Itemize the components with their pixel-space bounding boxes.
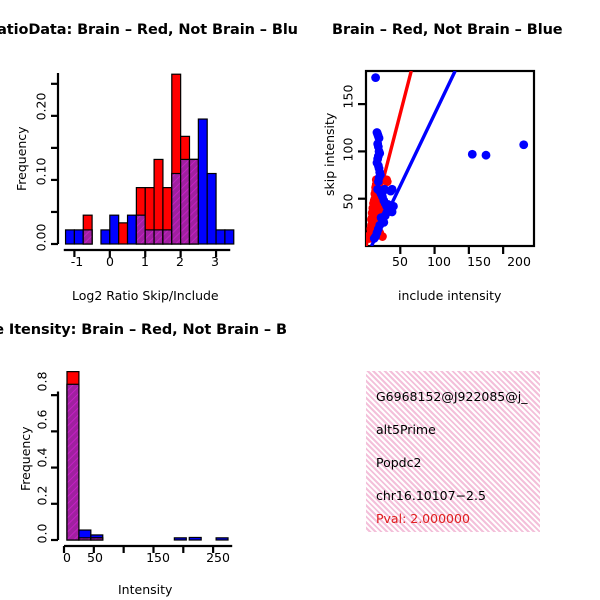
gene-info-panel: G6968152@J922085@j_ alt5Prime Popdc2 chr… bbox=[366, 371, 540, 532]
info-probe-id: G6968152@J922085@j_ bbox=[376, 389, 527, 404]
intensity-histogram-panel: ne Itensity: Brain – Red, Not Brain – B … bbox=[0, 316, 300, 600]
scatter-panel: Brain – Red, Not Brain – Blue skip inten… bbox=[300, 16, 600, 316]
scatter-plot-area bbox=[300, 16, 600, 316]
info-locus: chr16.10107−2.5 bbox=[376, 488, 486, 503]
ratio-histogram-plot-area bbox=[0, 16, 300, 316]
intensity-histogram-plot-area bbox=[0, 316, 300, 600]
info-gene-name: Popdc2 bbox=[376, 455, 421, 470]
info-pval: Pval: 2.000000 bbox=[376, 511, 470, 526]
ratio-histogram-panel: RatioData: Brain – Red, Not Brain – Blu … bbox=[0, 16, 300, 316]
info-event-type: alt5Prime bbox=[376, 422, 436, 437]
